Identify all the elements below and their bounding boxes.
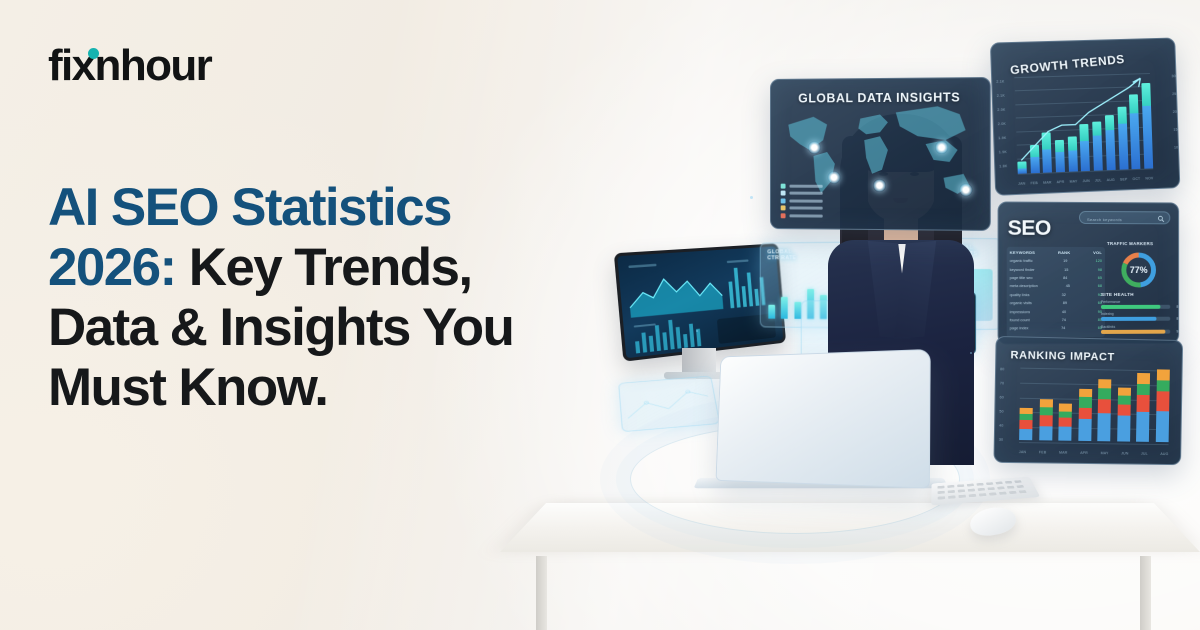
growth-ylabel-3: 2.0K	[998, 122, 1006, 126]
laptop	[708, 352, 928, 484]
growth-yr-0: 3000	[1172, 74, 1181, 78]
row-vol: 60	[1088, 301, 1102, 305]
ranking-x-3: APR	[1080, 451, 1088, 455]
ranking-x-6: JUL	[1141, 452, 1148, 456]
growth-ylabel-6: 1.8K	[999, 164, 1007, 168]
row-vol: 68	[1088, 284, 1102, 288]
row-rank: 74	[1051, 326, 1065, 330]
traffic-label: TRAFFIC MARKERS	[1107, 241, 1153, 246]
site-health-title: SITE HEALTH	[1101, 291, 1170, 296]
panel-ranking-title: RANKING IMPACT	[1010, 349, 1115, 363]
ranking-x-2: MAR	[1059, 451, 1067, 455]
health-row-indexing: Indexing 80%	[1101, 312, 1170, 321]
growth-bar-mar	[1042, 132, 1052, 172]
hero-illustration: GLOBAL CTR RATE GLOBAL MARKETS	[500, 0, 1200, 630]
logo-dot-icon	[88, 48, 99, 59]
dust-particle	[750, 196, 753, 199]
row-rank: 19	[1053, 259, 1067, 263]
traffic-markers-widget: TRAFFIC MARKERS 77%	[1105, 241, 1170, 293]
panel-growth-trends[interactable]: GROWTH TRENDS	[990, 37, 1180, 195]
table-row[interactable]: page index 74 65	[1010, 324, 1102, 333]
dust-particle	[970, 352, 972, 354]
row-rank: 45	[1056, 284, 1070, 288]
growth-ylabel-1: 2.1K	[997, 94, 1005, 98]
keywords-table-header: KEYWORDS RANK VOL	[1010, 250, 1102, 255]
traffic-value: 77%	[1119, 250, 1159, 290]
row-vol: 98	[1088, 268, 1102, 272]
map-pin-3[interactable]	[873, 179, 886, 192]
growth-x-5: JUN	[1082, 179, 1090, 183]
table-row[interactable]: quality links 32 92	[1010, 291, 1102, 300]
row-vol: 92	[1088, 293, 1102, 297]
headline-line3: Data & Insights You	[48, 298, 513, 357]
map-pin-1[interactable]	[808, 141, 821, 154]
health-value: 80%	[1176, 317, 1179, 321]
row-rank: 32	[1052, 293, 1066, 297]
ranking-bar-jul	[1136, 373, 1150, 442]
growth-x-8: SEP	[1120, 177, 1128, 181]
panel-ranking-impact[interactable]: RANKING IMPACT	[993, 336, 1183, 465]
ranking-bar-feb	[1039, 399, 1053, 440]
growth-x-2: MAR	[1043, 180, 1052, 184]
legend-item-2	[781, 191, 823, 196]
growth-yr-4: 1000	[1174, 145, 1180, 149]
ranking-y-2: 60	[1000, 395, 1004, 399]
health-track: 80%	[1101, 317, 1170, 321]
row-keyword: found count	[1010, 318, 1030, 322]
row-keyword: impressions	[1010, 310, 1030, 314]
headline-accent-line1: AI SEO Statistics	[48, 178, 451, 237]
health-row-performance: Performance 85%	[1101, 299, 1170, 308]
legend-item-4	[781, 205, 823, 210]
health-name: Performance	[1101, 299, 1170, 303]
search-input[interactable]: Search keywords	[1079, 211, 1170, 224]
row-rank: 84	[1053, 276, 1067, 280]
search-icon[interactable]	[1157, 215, 1164, 222]
health-value: 85%	[1176, 304, 1179, 308]
table-row[interactable]: meta description 45 68	[1010, 282, 1102, 291]
hologram-grid-lines	[619, 376, 719, 431]
row-keyword: meta description	[1010, 284, 1038, 288]
col-keywords: KEYWORDS	[1010, 250, 1035, 255]
ranking-x-5: JUN	[1121, 451, 1128, 455]
health-fill	[1101, 329, 1165, 333]
brand-logo[interactable]: fixnhour	[48, 44, 211, 88]
ranking-bar-apr	[1078, 389, 1092, 441]
health-track: 85%	[1101, 304, 1170, 308]
health-fill	[1101, 304, 1160, 308]
table-row[interactable]: organic visits 89 60	[1010, 299, 1102, 308]
row-rank: 89	[1053, 301, 1067, 305]
row-vol: 120	[1088, 259, 1102, 263]
growth-bar-oct	[1129, 94, 1140, 169]
growth-x-6: JUL	[1095, 178, 1102, 182]
hologram-global-ctr-title: GLOBAL CTR RATE	[767, 249, 796, 261]
laptop-lid	[716, 349, 931, 489]
brand-name: fixnhour	[48, 41, 211, 90]
row-rank: 40	[1052, 310, 1066, 314]
row-rank: 15	[1054, 268, 1068, 272]
growth-bar-aug	[1105, 115, 1116, 170]
row-vol: 65	[1088, 276, 1102, 280]
headline-line4: Must Know.	[48, 358, 327, 417]
ranking-y-4: 40	[999, 424, 1003, 428]
table-row[interactable]: organic traffic 19 120	[1010, 257, 1102, 265]
ranking-x-0: JAN	[1019, 450, 1026, 454]
panel-seo-dashboard[interactable]: SEO Search keywords KEYWORDS RANK VOL or…	[998, 201, 1180, 344]
health-fill	[1101, 317, 1157, 321]
table-row[interactable]: keyword finder 15 98	[1010, 265, 1102, 273]
col-rank: RANK	[1058, 250, 1070, 255]
ranking-y-0: 80	[1000, 367, 1004, 371]
ranking-y-1: 70	[1000, 381, 1004, 385]
health-row-backlinks: Backlinks 93%	[1101, 324, 1170, 333]
legend-item-5	[781, 213, 823, 218]
monitor-charts	[617, 246, 783, 360]
health-name: Indexing	[1101, 312, 1170, 316]
col-vol: VOL	[1093, 250, 1102, 255]
holo-ctr-line2: CTR RATE	[767, 255, 796, 261]
table-row[interactable]: page title seo 84 65	[1010, 274, 1102, 282]
row-vol: 80	[1088, 318, 1102, 322]
health-value: 93%	[1176, 329, 1179, 333]
ranking-x-labels: JAN FEB MAR APR MAY JUN JUL AUG	[1019, 450, 1169, 456]
growth-chart-area	[1014, 73, 1153, 174]
ranking-bar-aug	[1156, 369, 1170, 442]
panel-global-data-insights[interactable]: GLOBAL DATA INSIGHTS	[770, 77, 991, 231]
seo-panel-title: SEO	[1008, 217, 1051, 241]
ranking-bar-jun	[1117, 388, 1131, 442]
growth-x-9: OCT	[1132, 177, 1140, 181]
growth-x-1: FEB	[1030, 181, 1038, 185]
desk-leg-right	[1140, 556, 1151, 630]
table-row[interactable]: impressions 40 90	[1010, 307, 1102, 316]
growth-yr-1: 2500	[1172, 92, 1180, 96]
growth-ylabel-5: 1.9K	[999, 150, 1007, 154]
ranking-bar-jan	[1019, 408, 1033, 440]
ranking-y-5: 30	[999, 438, 1003, 442]
panel-global-title: GLOBAL DATA INSIGHTS	[798, 90, 960, 105]
growth-bar-apr	[1055, 140, 1065, 172]
growth-ylabel-0: 2.1K	[996, 80, 1004, 84]
health-track: 93%	[1101, 329, 1170, 333]
map-legend	[781, 183, 823, 220]
growth-bar-jun	[1080, 124, 1091, 171]
row-keyword: quality links	[1010, 293, 1030, 297]
keywords-table[interactable]: KEYWORDS RANK VOL organic traffic 19 120…	[1007, 247, 1105, 338]
ranking-x-7: AUG	[1160, 452, 1168, 456]
map-pin-5[interactable]	[959, 183, 972, 196]
ranking-bar-may	[1098, 379, 1112, 441]
ranking-bars	[1019, 372, 1170, 443]
growth-x-labels: JAN FEB MAR APR MAY JUN JUL AUG SEP OCT …	[1018, 176, 1154, 186]
growth-x-7: AUG	[1107, 178, 1115, 182]
row-keyword: page index	[1010, 327, 1029, 331]
row-keyword: keyword finder	[1010, 268, 1035, 272]
site-health-widget: SITE HEALTH Performance 85% Indexing 80%…	[1101, 291, 1170, 337]
ranking-y-3: 50	[999, 410, 1003, 414]
row-keyword: page title seo	[1010, 276, 1033, 280]
headline-accent-line2: 2026:	[48, 238, 176, 297]
map-pin-4[interactable]	[935, 141, 948, 154]
row-vol: 90	[1088, 309, 1102, 313]
growth-yr-2: 2000	[1173, 110, 1181, 114]
ranking-x-1: FEB	[1039, 450, 1047, 454]
growth-bar-sep	[1117, 107, 1128, 170]
growth-x-4: MAY	[1069, 179, 1077, 183]
growth-bars	[1014, 73, 1153, 174]
growth-bar-jul	[1092, 121, 1103, 170]
legend-item-1	[781, 183, 823, 188]
health-name: Backlinks	[1101, 324, 1170, 328]
growth-bar-nov	[1141, 83, 1153, 169]
growth-bar-feb	[1030, 145, 1040, 173]
headline-line2-rest: Key Trends,	[176, 238, 472, 297]
row-rank: 74	[1052, 318, 1066, 322]
ranking-x-4: MAY	[1101, 451, 1109, 455]
map-pin-2[interactable]	[828, 171, 841, 184]
growth-ylabel-4: 1.9K	[998, 136, 1006, 140]
growth-yr-3: 1500	[1173, 128, 1180, 132]
search-placeholder: Search keywords	[1087, 216, 1122, 221]
growth-x-10: NOV	[1145, 176, 1153, 180]
desk-leg-left	[536, 556, 547, 630]
dust-particle	[696, 330, 698, 332]
growth-bar-may	[1067, 136, 1077, 171]
growth-x-3: APR	[1057, 180, 1065, 184]
legend-item-3	[781, 198, 823, 203]
growth-x-0: JAN	[1018, 182, 1025, 186]
growth-bar-jan	[1017, 161, 1026, 173]
row-keyword: organic visits	[1010, 301, 1032, 305]
traffic-donut-chart: 77%	[1119, 250, 1159, 290]
row-keyword: organic traffic	[1010, 259, 1033, 263]
ranking-bar-mar	[1058, 403, 1072, 440]
row-vol: 65	[1088, 326, 1102, 330]
hologram-desk-grid	[618, 376, 720, 433]
growth-ylabel-2: 2.0K	[997, 108, 1005, 112]
